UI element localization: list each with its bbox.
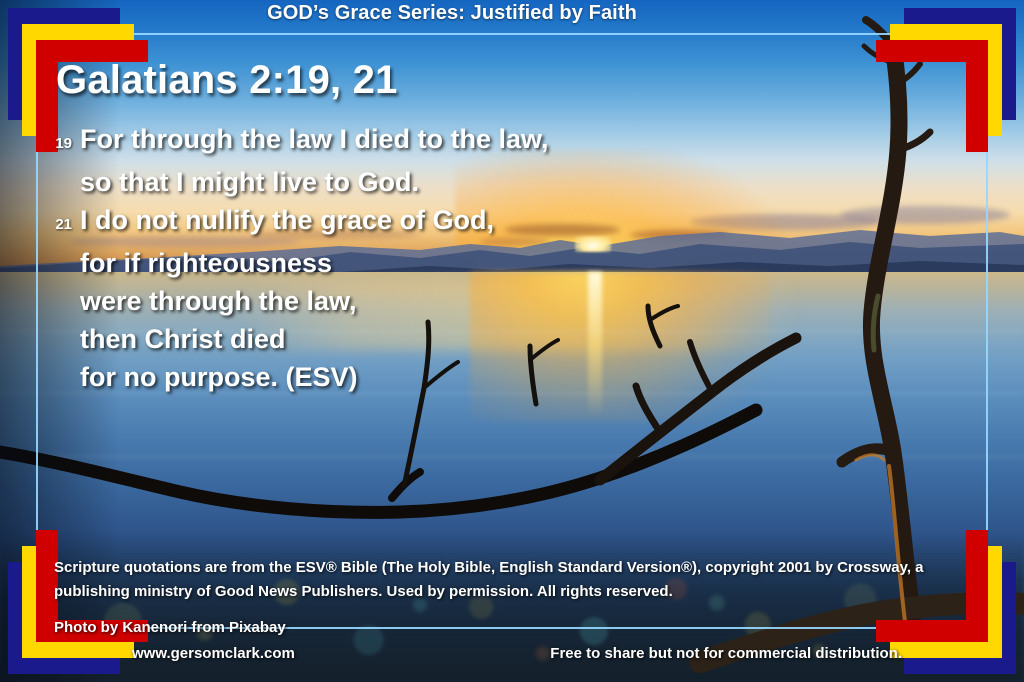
bracket-red-vertical (966, 530, 988, 642)
scripture-reference: Galatians 2:19, 21 (56, 58, 398, 103)
verse-text: For through the law I died to the law, (80, 120, 549, 158)
verse-text: were through the law, (80, 282, 357, 320)
credits-block: Scripture quotations are from the ESV® B… (54, 556, 924, 640)
verse-line: 21 I do not nullify the grace of God, (46, 201, 746, 244)
copyright-line-1: Scripture quotations are from the ESV® B… (54, 559, 811, 576)
footer-bar: www.gersomclark.com Free to share but no… (0, 632, 1024, 682)
verse-line: for no purpose. (ESV) (46, 358, 746, 396)
verse-line: were through the law, (46, 282, 746, 320)
website-url[interactable]: www.gersomclark.com (132, 645, 295, 662)
verse-text: so that I might live to God. (80, 163, 419, 201)
scripture-text: 19 For through the law I died to the law… (46, 120, 746, 396)
verse-number: 21 (46, 206, 80, 244)
bracket-red-vertical (966, 40, 988, 152)
verse-line: then Christ died (46, 320, 746, 358)
verse-number: 19 (46, 125, 80, 163)
usage-note: Free to share but not for commercial dis… (550, 645, 902, 662)
series-title: GOD’s Grace Series: Justified by Faith (0, 2, 1024, 25)
verse-text: for if righteousness (80, 244, 332, 282)
verse-text: I do not nullify the grace of God, (80, 201, 494, 239)
scripture-slide: GOD’s Grace Series: Justified by Faith G… (0, 0, 1024, 682)
verse-text: for no purpose. (ESV) (80, 358, 358, 396)
verse-line: for if righteousness (46, 244, 746, 282)
verse-line: 19 For through the law I died to the law… (46, 120, 746, 163)
verse-text: then Christ died (80, 320, 286, 358)
verse-line: so that I might live to God. (46, 163, 746, 201)
